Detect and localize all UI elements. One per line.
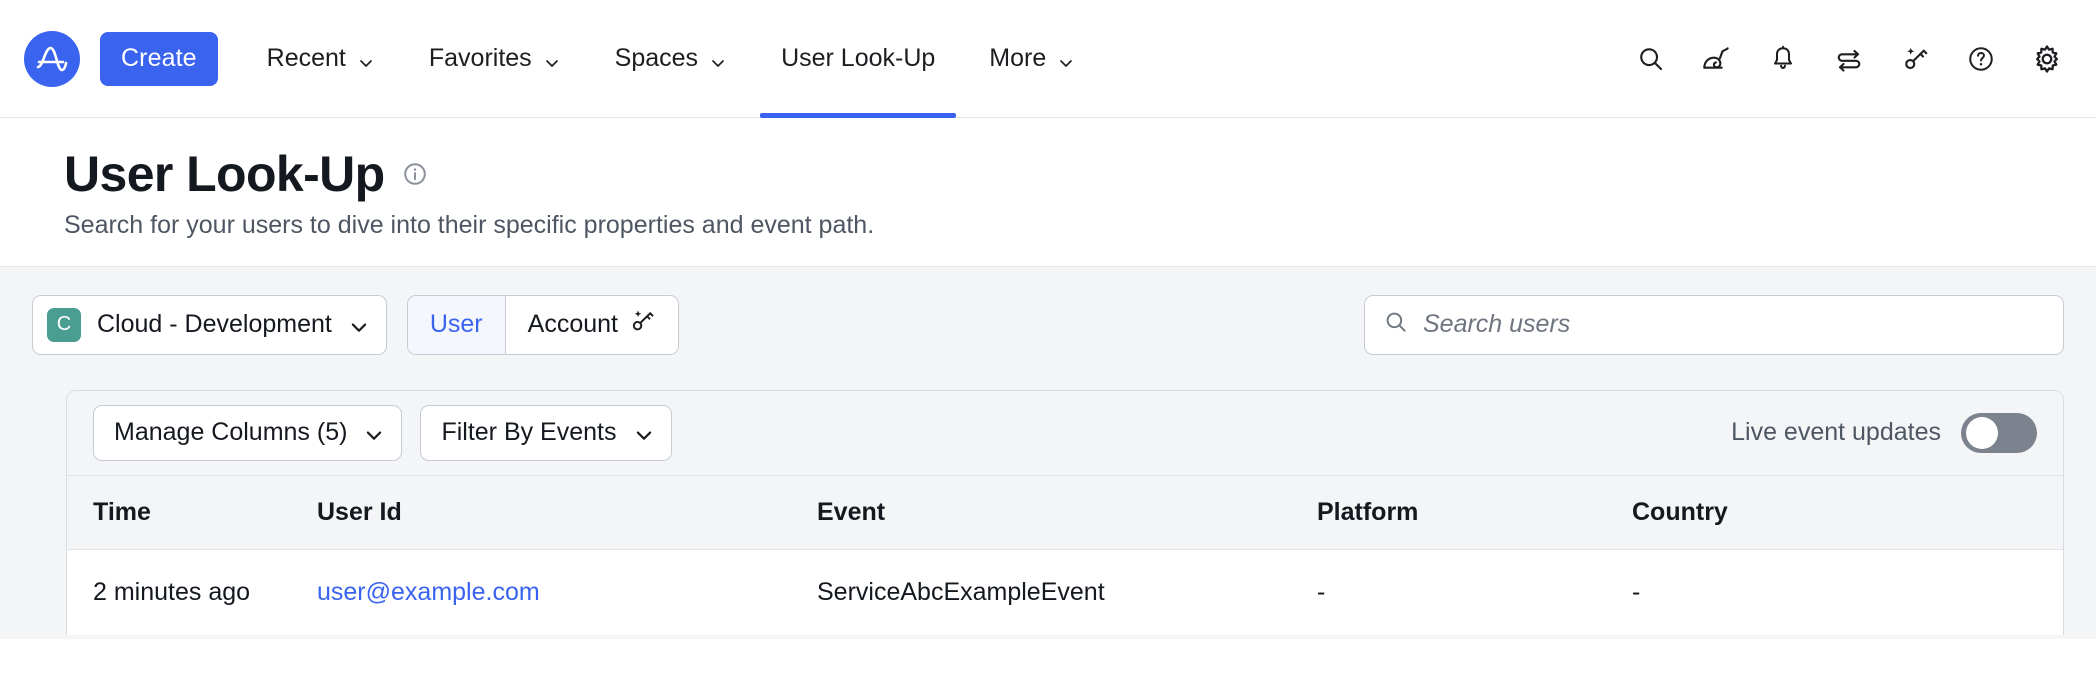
live-event-updates-label: Live event updates	[1731, 418, 1941, 447]
chevron-down-icon	[1057, 50, 1075, 68]
manage-columns-button[interactable]: Manage Columns (5)	[93, 405, 402, 461]
create-button[interactable]: Create	[100, 32, 218, 86]
column-header-country[interactable]: Country	[1632, 476, 2063, 550]
table-head: Time User Id Event Platform Country	[67, 476, 2063, 550]
nav-right-icons	[1634, 42, 2072, 76]
page-header: User Look-Up Search for your users to di…	[0, 118, 2096, 267]
chevron-down-icon	[363, 424, 381, 442]
column-header-time[interactable]: Time	[67, 476, 317, 550]
user-id-link[interactable]: user@example.com	[317, 578, 540, 606]
bell-icon[interactable]	[1766, 42, 1800, 76]
segment-label: User	[430, 310, 483, 339]
segment-label: Account	[528, 310, 618, 339]
nav-left-group: Create Recent Favorites Spaces	[24, 0, 1102, 117]
nav-item-spaces[interactable]: Spaces	[588, 0, 754, 118]
top-navigation-bar: Create Recent Favorites Spaces	[0, 0, 2096, 118]
chevron-down-icon	[633, 424, 651, 442]
column-header-user-id[interactable]: User Id	[317, 476, 817, 550]
search-icon[interactable]	[1634, 42, 1668, 76]
search-icon	[1383, 309, 1409, 340]
chevron-down-icon	[357, 50, 375, 68]
segment-user[interactable]: User	[408, 296, 506, 354]
nav-item-label: User Look-Up	[781, 44, 935, 73]
nav-item-more[interactable]: More	[962, 0, 1102, 118]
nav-items: Recent Favorites Spaces User Look-Up	[240, 0, 1103, 118]
amplitude-logo[interactable]	[24, 31, 80, 87]
users-table: Time User Id Event Platform Country 2 mi…	[67, 476, 2063, 635]
cell-country: -	[1632, 549, 2063, 635]
toggle-knob	[1966, 417, 1998, 449]
ai-key-icon[interactable]	[1898, 42, 1932, 76]
swap-arrows-icon[interactable]	[1832, 42, 1866, 76]
snail-icon[interactable]	[1700, 42, 1734, 76]
live-event-updates-group: Live event updates	[1731, 413, 2037, 453]
live-event-updates-toggle[interactable]	[1961, 413, 2037, 453]
cell-user-id: user@example.com	[317, 549, 817, 635]
gear-icon[interactable]	[2030, 42, 2064, 76]
filter-by-events-label: Filter By Events	[441, 418, 616, 447]
nav-item-recent[interactable]: Recent	[240, 0, 402, 118]
cell-event: ServiceAbcExampleEvent	[817, 549, 1317, 635]
table-body: 2 minutes ago user@example.com ServiceAb…	[67, 549, 2063, 635]
nav-item-user-look-up[interactable]: User Look-Up	[754, 0, 962, 118]
nav-item-label: More	[989, 44, 1046, 73]
project-selector[interactable]: C Cloud - Development	[32, 295, 387, 355]
chevron-down-icon	[709, 50, 727, 68]
manage-columns-label: Manage Columns (5)	[114, 418, 347, 447]
ai-key-icon	[628, 307, 656, 342]
page-subtitle: Search for your users to dive into their…	[64, 211, 2096, 240]
user-account-toggle-group: User Account	[407, 295, 679, 355]
nav-item-favorites[interactable]: Favorites	[402, 0, 588, 118]
info-icon[interactable]	[401, 160, 429, 188]
search-users-box[interactable]	[1364, 295, 2064, 355]
search-input[interactable]	[1423, 310, 2045, 339]
chevron-down-icon	[348, 316, 366, 334]
title-row: User Look-Up	[64, 148, 2096, 201]
column-header-platform[interactable]: Platform	[1317, 476, 1632, 550]
filter-bar: C Cloud - Development User Account	[0, 267, 2096, 355]
cell-time: 2 minutes ago	[67, 549, 317, 635]
nav-item-label: Spaces	[615, 44, 698, 73]
cell-platform: -	[1317, 549, 1632, 635]
help-circle-icon[interactable]	[1964, 42, 1998, 76]
project-name: Cloud - Development	[97, 310, 332, 339]
nav-item-label: Favorites	[429, 44, 532, 73]
chevron-down-icon	[543, 50, 561, 68]
table-header-row: Time User Id Event Platform Country	[67, 476, 2063, 550]
table-toolbar: Manage Columns (5) Filter By Events Live…	[67, 391, 2063, 476]
nav-item-label: Recent	[267, 44, 346, 73]
users-table-card: Manage Columns (5) Filter By Events Live…	[66, 390, 2064, 635]
filter-by-events-button[interactable]: Filter By Events	[420, 405, 671, 461]
segment-account[interactable]: Account	[506, 296, 678, 354]
page-title: User Look-Up	[64, 148, 385, 201]
table-row[interactable]: 2 minutes ago user@example.com ServiceAb…	[67, 549, 2063, 635]
column-header-event[interactable]: Event	[817, 476, 1317, 550]
project-avatar: C	[47, 308, 81, 342]
content-area: C Cloud - Development User Account	[0, 267, 2096, 639]
